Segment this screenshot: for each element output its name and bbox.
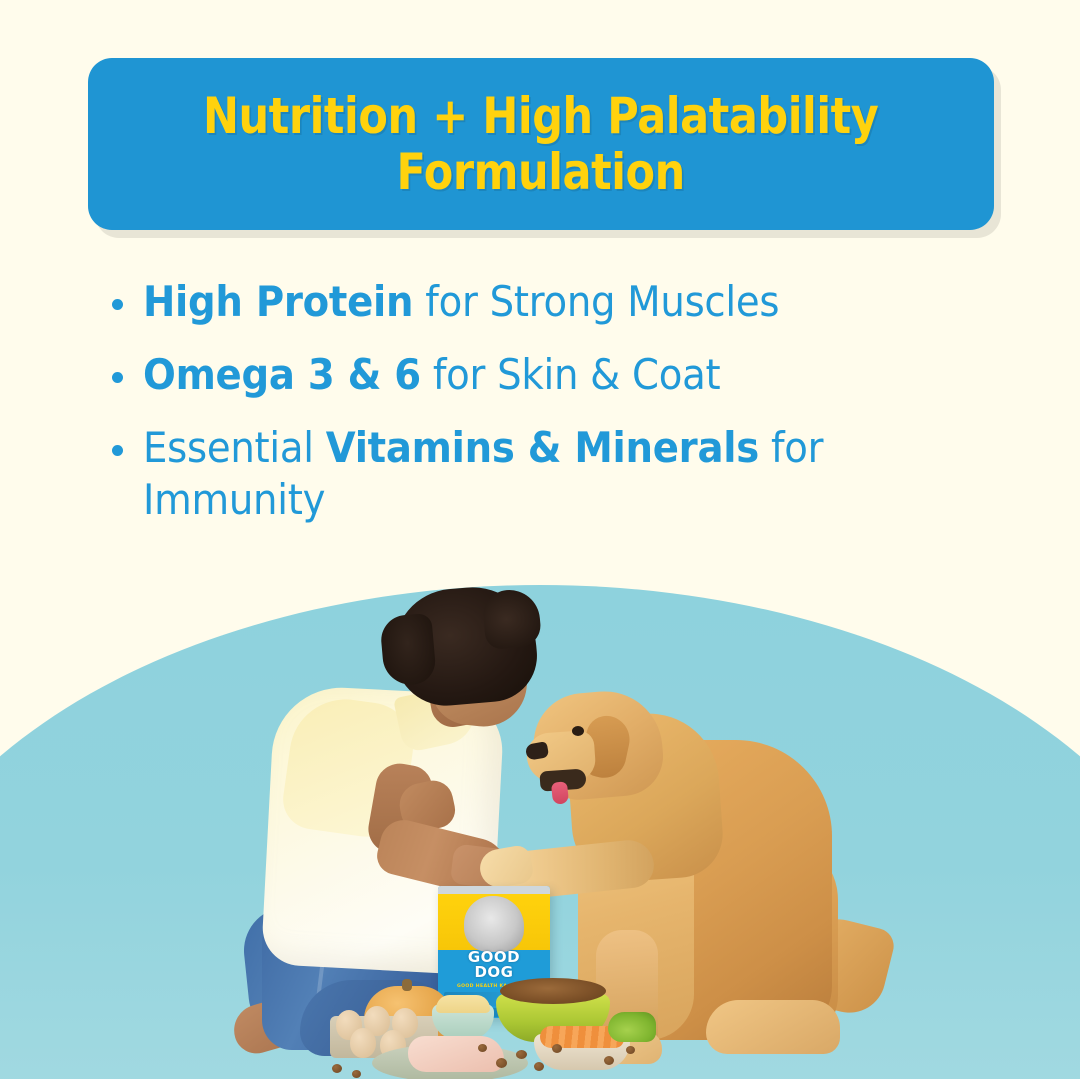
benefit-3-bold: Vitamins & Minerals [326,423,759,472]
mint-bowl-prop [432,1004,494,1040]
list-item: Omega 3 & 6 for Skin & Coat [112,349,1012,400]
kibble-piece [552,1044,562,1053]
raw-chicken-prop [408,1036,504,1072]
package-top-seal [438,886,550,894]
kibble-piece [516,1050,527,1059]
package-brand-line-2: DOG [438,965,550,980]
benefit-1-rest: for Strong Muscles [413,277,779,326]
page-title: Nutrition + High Palatability Formulatio… [203,88,878,200]
poster-canvas: GOOD DOG GOOD HEALTH KA SECRET [0,0,1080,1079]
kibble-piece [352,1070,361,1078]
dog-eye [572,726,584,736]
list-item: Essential Vitamins & Minerals for Immuni… [112,422,1012,524]
kibble-piece [604,1056,614,1065]
benefit-1-bold: High Protein [143,277,413,326]
dog-rear-foot [706,1000,840,1054]
kibble-piece [626,1046,635,1054]
kibble-piece [534,1062,544,1071]
boy-curly-hair [389,582,541,710]
benefit-text-1: High Protein for Strong Muscles [143,276,779,327]
bullet-dot-icon [112,299,123,310]
package-dog-illustration [464,896,524,952]
bullet-dot-icon [112,372,123,383]
package-brand-name: GOOD DOG [438,950,550,980]
bullet-dot-icon [112,445,123,456]
egg-prop [350,1028,376,1058]
list-item: High Protein for Strong Muscles [112,276,1012,327]
kibble-piece [478,1044,487,1052]
kibble-piece [496,1058,507,1068]
kibble-piece [332,1064,342,1073]
benefit-2-rest: for Skin & Coat [421,350,721,399]
benefit-2-bold: Omega 3 & 6 [143,350,421,399]
benefit-text-2: Omega 3 & 6 for Skin & Coat [143,349,720,400]
header-banner: Nutrition + High Palatability Formulatio… [88,58,994,230]
benefit-3-prefix: Essential [143,423,326,472]
dog-tongue [551,781,569,805]
benefit-text-3: Essential Vitamins & Minerals for Immuni… [143,422,942,524]
benefits-list: High Protein for Strong Muscles Omega 3 … [112,276,1012,547]
carrot-greens-prop [608,1012,656,1042]
